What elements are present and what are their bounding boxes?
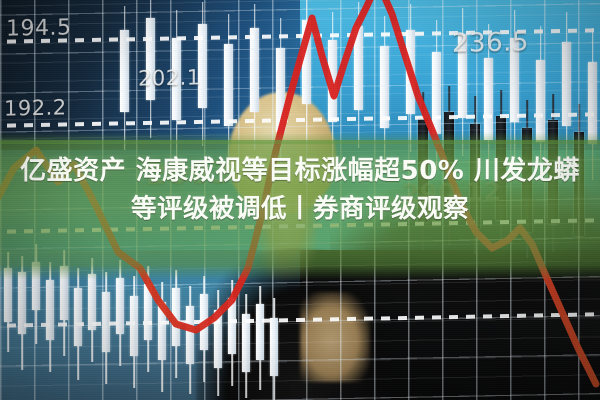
news-thumbnail-image: 194.5192.2202.1236.52003290.12 亿盛资产 海康威视… xyxy=(0,0,600,400)
image-vignette xyxy=(0,0,600,400)
